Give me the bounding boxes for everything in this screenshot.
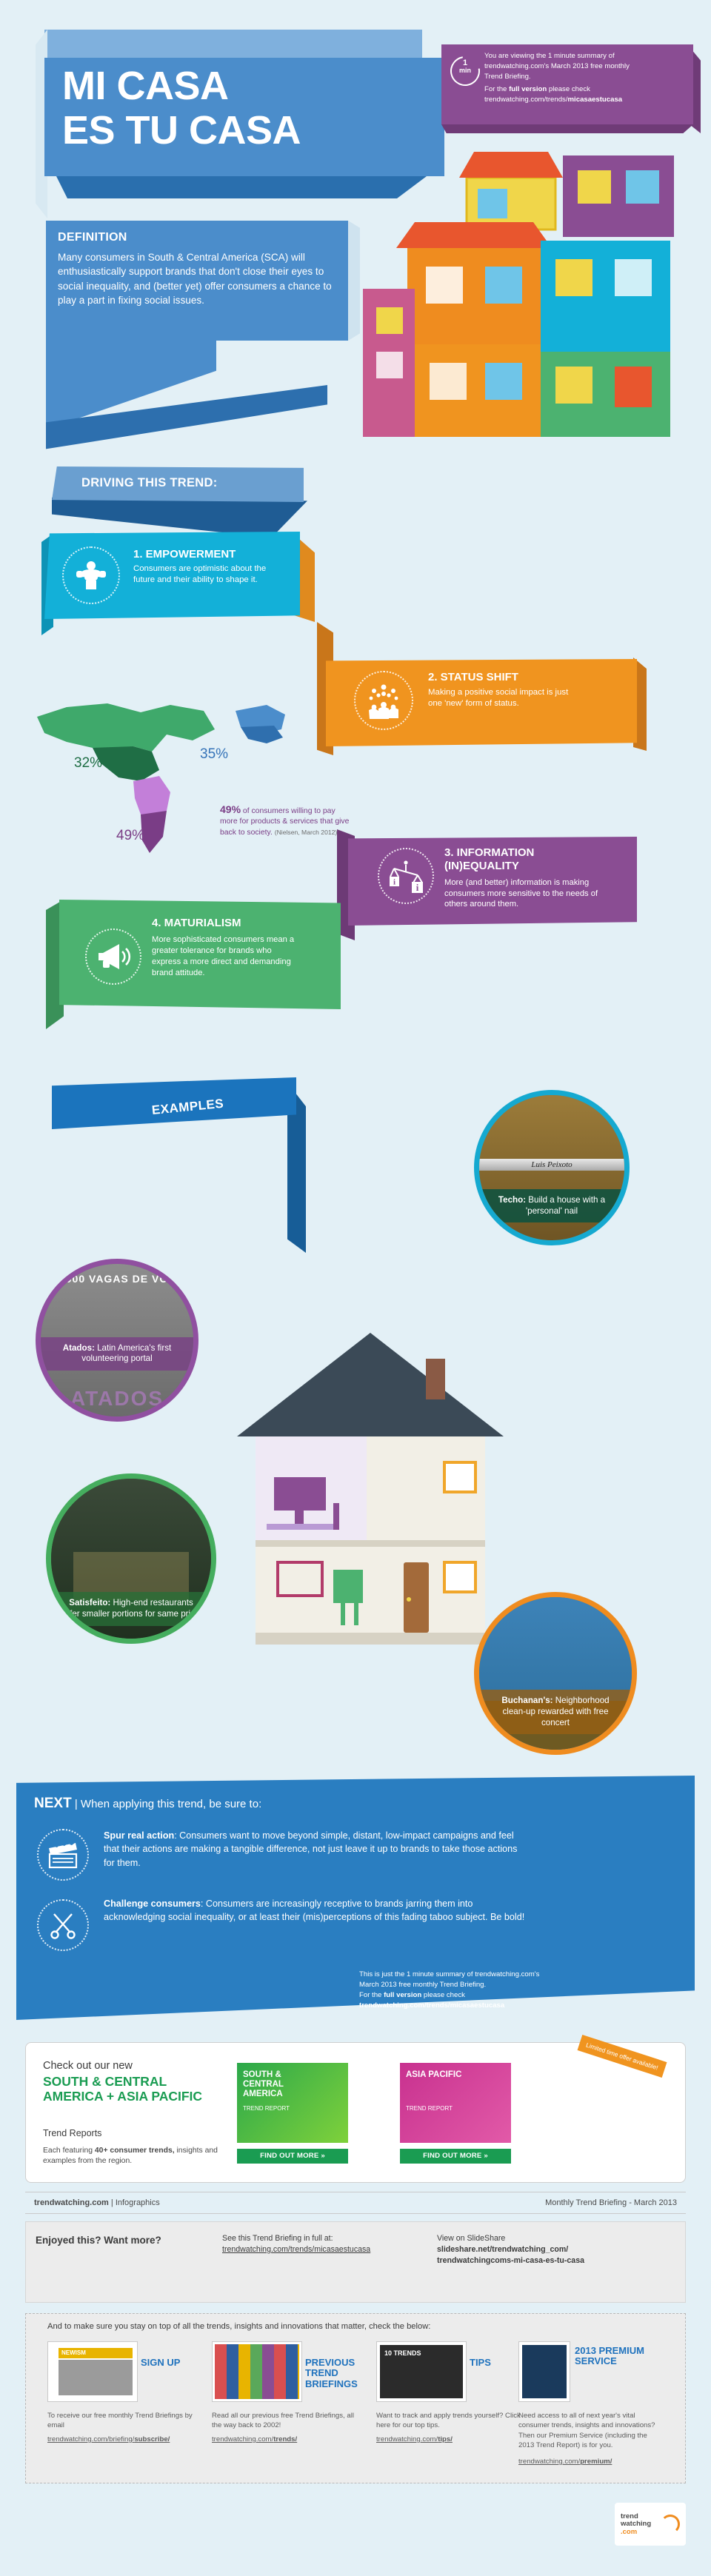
- next-label: NEXT: [34, 1796, 72, 1811]
- badge-line-3: Trend Briefing.: [484, 72, 684, 82]
- crowd-celebration-icon: [354, 671, 413, 730]
- clock-label: 1min: [450, 59, 480, 74]
- next-subtitle: | When applying this trend, be sure to:: [75, 1798, 261, 1810]
- premium-title: 2013 PREMIUM SERVICE: [575, 2346, 656, 2367]
- find-out-more-sca-button[interactable]: FIND OUT MORE »: [237, 2149, 348, 2164]
- muscle-arms-icon: [62, 546, 120, 604]
- trendwatching-logo[interactable]: trendwatching .com: [615, 2503, 686, 2546]
- promo-check-out: Check out our new: [43, 2060, 133, 2072]
- next-heading: NEXT | When applying this trend, be sure…: [34, 1796, 261, 1812]
- balance-scale-info-icon: i i: [378, 848, 434, 904]
- previous-briefings-title: PREVIOUS TREND BRIEFINGS: [305, 2358, 372, 2389]
- previous-briefings-thumbnail: [212, 2341, 302, 2402]
- stay-on-top-heading: And to make sure you stay on top of all …: [47, 2322, 430, 2331]
- stat-source: (Nielsen, March 2012): [275, 829, 338, 836]
- panel2-body: Making a positive social impact is just …: [428, 687, 576, 709]
- promo-title: SOUTH & CENTRAL AMERICA + ASIA PACIFIC: [43, 2075, 213, 2104]
- definition-body: Many consumers in South & Central Americ…: [58, 250, 338, 307]
- svg-text:i: i: [393, 878, 395, 887]
- megaphone-icon: [85, 929, 141, 985]
- previous-briefings-desc: Read all our previous free Trend Briefin…: [212, 2411, 360, 2431]
- atados-caption: Atados: Latin America's first volunteeri…: [41, 1337, 193, 1371]
- infographic-page: MI CASA ES TU CASA You are viewing the 1…: [0, 0, 711, 2576]
- premium-desc: Need access to all of next year's vital …: [518, 2411, 659, 2451]
- next-footer-note: This is just the 1 minute summary of tre…: [359, 1970, 685, 2011]
- enjoy-column-1: See this Trend Briefing in full at: tren…: [222, 2233, 407, 2255]
- panel1-body: Consumers are optimistic about the futur…: [133, 563, 281, 586]
- enjoy-link-full[interactable]: trendwatching.com/trends/micasaestucasa: [222, 2244, 407, 2255]
- next-tip-1: Spur real action: Consumers want to move…: [104, 1829, 518, 1870]
- atados-overlay-word: ATADOS: [41, 1387, 193, 1411]
- title-line-1: MI CASA: [62, 64, 447, 108]
- logo-domain: .com: [621, 2528, 637, 2536]
- promo-note: Each featuring 40+ consumer trends, insi…: [43, 2146, 221, 2167]
- footer-strip-left: trendwatching.com | Infographics: [34, 2198, 160, 2207]
- atados-photo-text: 000 VAGAS DE VO: [41, 1273, 193, 1285]
- next-tip-2: Challenge consumers: Consumers are incre…: [104, 1897, 533, 1924]
- header-top-band: [44, 30, 422, 58]
- map-stat-note: 49% of consumers willing to pay more for…: [220, 803, 353, 838]
- panel4-heading: 4. MATURIALISM: [152, 917, 241, 929]
- stat-value: 49%: [220, 803, 241, 815]
- premium-link[interactable]: trendwatching.com/premium/: [518, 2457, 659, 2466]
- map-percent-north-america: 32%: [74, 755, 102, 772]
- sign-up-link[interactable]: trendwatching.com/briefing/subscribe/: [47, 2435, 196, 2444]
- example-card-satisfeito[interactable]: Satisfeito: High-end restaurants offer s…: [46, 1473, 216, 1644]
- panel3-heading: 3. INFORMATION (IN)EQUALITY: [444, 846, 592, 872]
- sign-up-desc: To receive our free monthly Trend Briefi…: [47, 2411, 196, 2431]
- badge-line-4: For the full version please check: [484, 84, 684, 95]
- enjoy-column-2: View on SlideShare slideshare.net/trendw…: [437, 2233, 659, 2266]
- panel1-heading: 1. EMPOWERMENT: [133, 548, 236, 561]
- promo-cover-sca[interactable]: SOUTH & CENTRAL AMERICA TREND REPORT: [237, 2063, 348, 2143]
- houses-illustration: [318, 111, 704, 452]
- panel2-heading: 2. STATUS SHIFT: [428, 671, 518, 683]
- previous-briefings-link[interactable]: trendwatching.com/trends/: [212, 2435, 360, 2444]
- panel3-body: More (and better) information is making …: [444, 877, 604, 910]
- clapperboard-icon: [37, 1829, 89, 1881]
- panel4-body: More sophisticated consumers mean a grea…: [152, 934, 300, 979]
- wave-icon: [661, 2515, 680, 2534]
- sign-up-thumbnail: NEWISM: [47, 2341, 138, 2402]
- promo-cover-apac[interactable]: ASIA PACIFIC TREND REPORT: [400, 2063, 511, 2143]
- example-card-buchanans[interactable]: Buchanan's: Neighborhood clean-up reward…: [474, 1592, 637, 1755]
- example-card-techo[interactable]: Luis Peixoto Techo: Build a house with a…: [474, 1090, 630, 1245]
- techo-caption: Techo: Build a house with a 'personal' n…: [479, 1189, 624, 1223]
- driving-banner-label: DRIVING THIS TREND:: [81, 476, 218, 490]
- buchanans-caption: Buchanan's: Neighborhood clean-up reward…: [479, 1690, 632, 1734]
- definition-title: DEFINITION: [58, 231, 127, 244]
- definition-fold: [348, 221, 360, 341]
- cutaway-house-illustration: [222, 1318, 518, 1666]
- svg-text:i: i: [416, 882, 419, 893]
- tips-desc: Want to track and apply trends yourself?…: [376, 2411, 524, 2431]
- map-percent-south-america: 49%: [116, 828, 144, 844]
- example-card-atados[interactable]: 000 VAGAS DE VO ATADOS Atados: Latin Ame…: [36, 1259, 198, 1422]
- sign-up-title: SIGN UP: [141, 2358, 207, 2368]
- enjoy-link-slideshare-2[interactable]: trendwatchingcoms-mi-casa-es-tu-casa: [437, 2255, 659, 2266]
- promo-subtitle: Trend Reports: [43, 2128, 101, 2138]
- tips-link[interactable]: trendwatching.com/tips/: [376, 2435, 524, 2444]
- driving-band-shadow: [52, 498, 307, 538]
- satisfeito-caption: Satisfeito: High-end restaurants offer s…: [51, 1592, 211, 1626]
- techo-photo-text: Luis Peixoto: [479, 1160, 624, 1169]
- badge-line-2: trendwatching.com's March 2013 free mont…: [484, 61, 684, 72]
- tips-thumbnail: 10 TRENDS: [376, 2341, 467, 2402]
- find-out-more-apac-button[interactable]: FIND OUT MORE »: [400, 2149, 511, 2164]
- enjoy-link-slideshare-1[interactable]: slideshare.net/trendwatching_com/: [437, 2244, 659, 2255]
- next-footer-link[interactable]: trendwatching.com/trends/micasaestucasa: [359, 2001, 685, 2011]
- logo-text: trendwatching: [621, 2513, 651, 2529]
- footer-strip: trendwatching.com | Infographics Monthly…: [25, 2192, 686, 2214]
- scissors-icon: [37, 1899, 89, 1951]
- badge-link[interactable]: trendwatching.com/trends/micasaestucasa: [484, 95, 684, 105]
- premium-thumbnail: [518, 2341, 570, 2402]
- enjoy-heading: Enjoyed this? Want more?: [36, 2235, 161, 2246]
- footer-strip-right: Monthly Trend Briefing - March 2013: [545, 2198, 677, 2207]
- map-percent-europe: 35%: [200, 746, 228, 763]
- badge-line-1: You are viewing the 1 minute summary of: [484, 51, 684, 61]
